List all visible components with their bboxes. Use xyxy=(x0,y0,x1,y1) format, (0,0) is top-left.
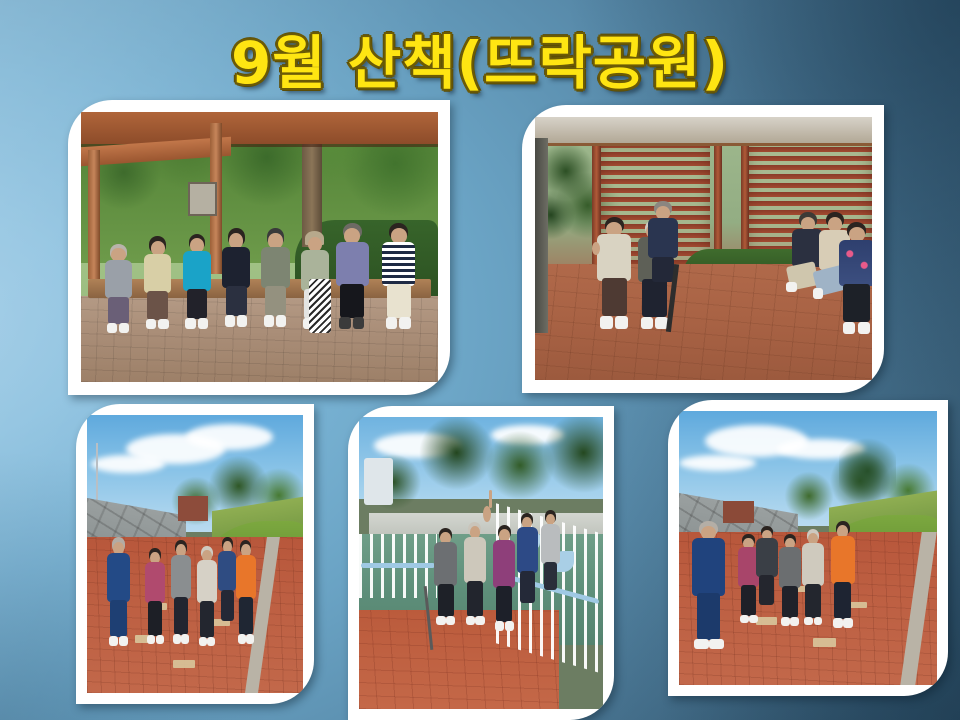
photo-4-person xyxy=(479,502,496,549)
photo-5-person xyxy=(829,521,857,631)
photo-2-frame-post xyxy=(535,138,548,333)
photo-5-person xyxy=(689,521,728,653)
photo-image-5 xyxy=(679,411,937,685)
photo-image-3 xyxy=(87,415,303,693)
photo-3-person xyxy=(169,540,193,646)
photo-1-umbrella xyxy=(309,279,330,333)
photo-1-person xyxy=(334,223,370,334)
photo-3-person xyxy=(195,546,219,649)
photo-4-person xyxy=(432,528,459,627)
slide-title-area: 9월 산책(뜨락공원) xyxy=(0,16,960,100)
photo-5-person xyxy=(754,526,780,614)
photo-3-shelter xyxy=(178,496,208,521)
photo-image-4 xyxy=(359,417,603,709)
photo-1-person xyxy=(381,223,417,334)
photo-1-person xyxy=(142,236,174,333)
photo-1-person xyxy=(102,244,134,336)
photo-4-person xyxy=(540,510,562,598)
photo-1-scene xyxy=(81,112,438,382)
photo-1-pillar-left xyxy=(88,150,100,280)
photo-2-scene xyxy=(535,117,872,380)
photo-image-1 xyxy=(81,112,438,382)
photo-1-pavilion-roof xyxy=(81,112,438,144)
photo-3-street-lamp xyxy=(96,443,98,504)
photo-5-person xyxy=(800,529,826,628)
photo-frame-3[interactable] xyxy=(76,404,314,704)
photo-3-person xyxy=(104,537,132,648)
slide: 9월 산책(뜨락공원) xyxy=(0,0,960,720)
photo-frame-1[interactable] xyxy=(68,100,450,395)
photo-1-notice-board xyxy=(188,182,217,216)
photo-2-person xyxy=(596,217,633,333)
photo-2-person xyxy=(838,222,872,338)
photo-4-scene xyxy=(359,417,603,709)
photo-3-person xyxy=(143,548,167,645)
photo-5-person xyxy=(777,534,803,627)
photo-3-scene xyxy=(87,415,303,693)
photo-frame-4[interactable] xyxy=(348,406,614,720)
photo-3-person xyxy=(234,540,258,646)
photo-image-2 xyxy=(535,117,872,380)
photo-2-pergola-roof xyxy=(535,117,872,146)
photo-4-person xyxy=(515,513,539,612)
photo-4-building xyxy=(364,458,393,505)
photo-1-person xyxy=(220,228,252,331)
slide-title: 9월 산책(뜨락공원) xyxy=(231,16,729,100)
photo-1-person xyxy=(181,234,213,334)
photo-5-scene xyxy=(679,411,937,685)
photo-frame-5[interactable] xyxy=(668,400,948,696)
photo-frame-2[interactable] xyxy=(522,105,884,393)
photo-1-person xyxy=(260,228,292,331)
